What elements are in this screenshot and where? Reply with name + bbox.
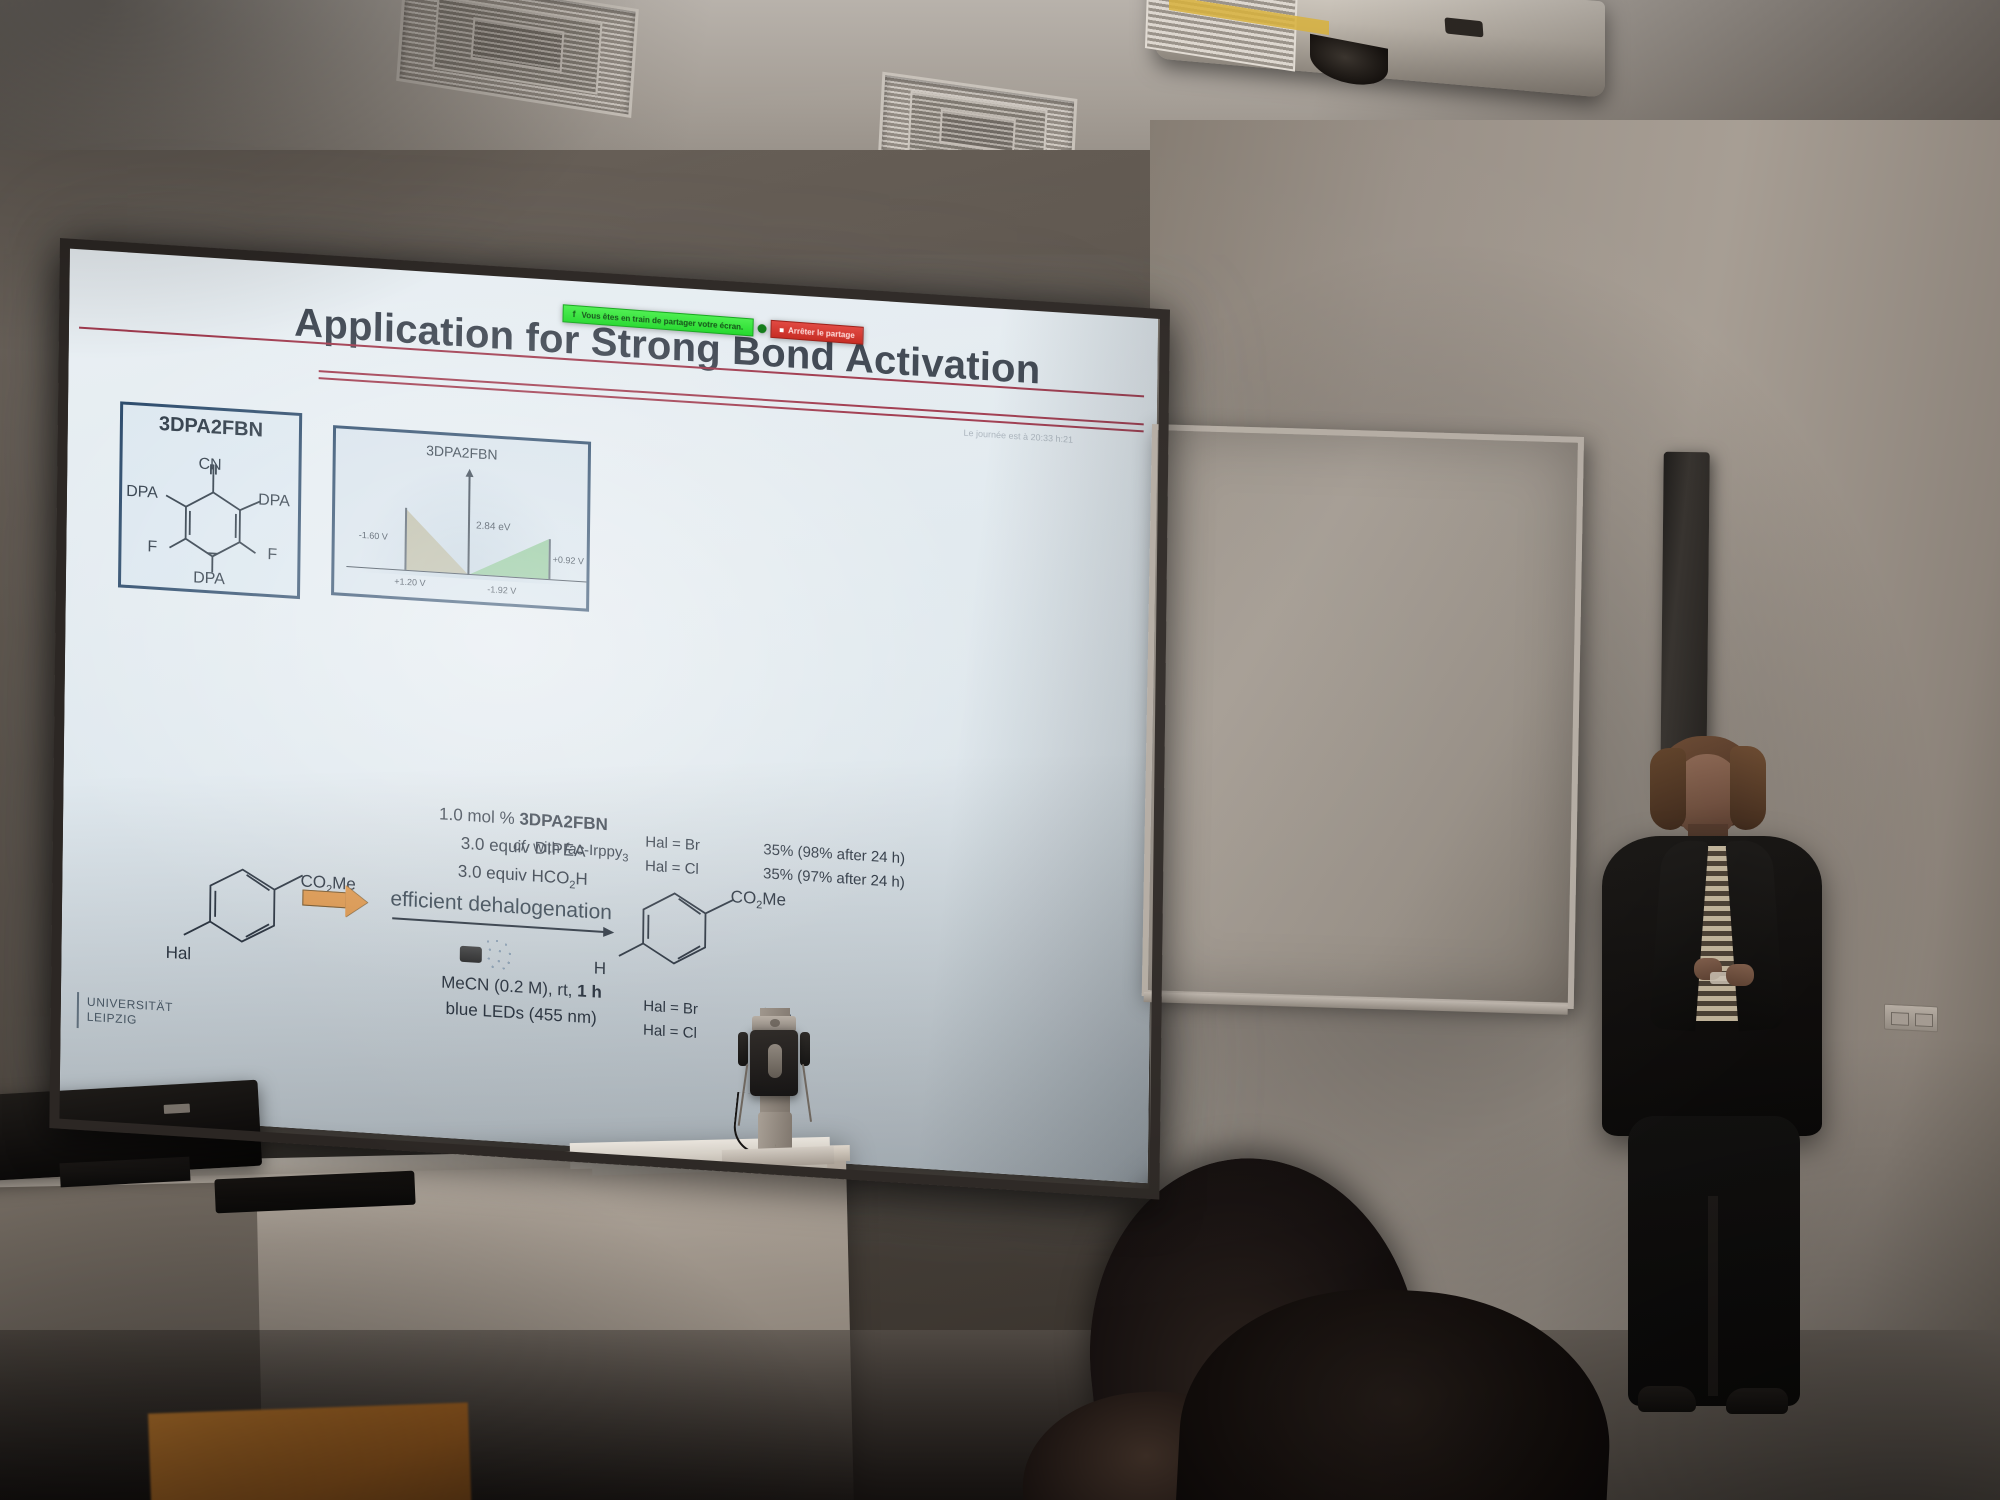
comparison-cf: cf: [513, 837, 525, 855]
energy-plot: 2.84 eV -1.60 V +0.92 V +1.20 V -1.92 V: [342, 459, 579, 586]
condition-solvent-text: MeCN (0.2 M), rt,: [441, 972, 577, 1000]
whiteboard: [1142, 424, 1584, 1009]
substituent-upper-left-dpa: DPA: [126, 483, 158, 503]
mic-body: [750, 1030, 798, 1096]
ground-reduction-potential-label: -1.92 V: [487, 584, 516, 596]
substituent-cn: CN: [198, 455, 221, 474]
presenter-shoe-left: [1638, 1386, 1696, 1412]
stop-sharing-label: Arrêter le partage: [788, 326, 855, 340]
substituent-lower-right-f: F: [267, 546, 277, 565]
comparison-row-cl-halide: Hal = Cl: [645, 858, 699, 878]
presenter-leg-gap: [1708, 1196, 1718, 1396]
mic-arm-right: [800, 1032, 810, 1066]
comparison-irppy-sub: 3: [622, 852, 628, 864]
presenter-hair-left: [1650, 748, 1686, 830]
result-row-cl-halide: Hal = Cl: [643, 1022, 697, 1042]
excited-state-energy-label: 2.84 eV: [476, 520, 511, 533]
comparison-row-br-halide: Hal = Br: [645, 834, 700, 855]
result-row-br-halide: Hal = Br: [643, 998, 698, 1019]
stop-square-icon: ■: [779, 325, 784, 334]
substituent-upper-right-dpa: DPA: [258, 491, 290, 511]
university-logo: UNIVERSITÄT LEIPZIG: [87, 995, 173, 1031]
oxidation-wedge: [470, 534, 548, 579]
power-outlet: [1884, 1004, 1938, 1033]
projection-screen: Application for Strong Bond Activation L…: [60, 248, 1158, 1183]
comparison-irppy: -Irppy: [584, 842, 623, 861]
mic-wire-right: [802, 1064, 812, 1122]
redox-energy-diagram-panel: 3DPA2FBN 2.84 eV -1.60 V +0.92 V +1.20 V…: [331, 425, 591, 612]
condition-formic-prefix: 3.0 equiv HCO: [458, 861, 570, 887]
product-structure-svg: [601, 861, 833, 1026]
product-hydrogen-label: H: [594, 958, 607, 979]
presenter-hand-right: [1726, 964, 1754, 986]
presenter-person: [1580, 736, 1880, 1436]
ground-oxidation-potential-label: +1.20 V: [394, 576, 425, 588]
presentation-slide: Application for Strong Bond Activation L…: [60, 248, 1158, 1183]
condition-catalyst-loading: 1.0 mol %: [439, 804, 520, 828]
substrate-halide-label: Hal: [166, 943, 192, 965]
presenter-shoe-right: [1726, 1388, 1788, 1414]
condition-catalyst-name: 3DPA2FBN: [519, 809, 608, 834]
reduction-wedge: [404, 508, 468, 574]
share-indicator-dot: [757, 323, 766, 333]
mic-arm-left: [738, 1032, 748, 1066]
mic-base-plate: [722, 1146, 835, 1168]
mic-screw: [770, 1019, 780, 1027]
presenter-hair-right: [1730, 746, 1766, 830]
orange-arrow-icon: [302, 889, 346, 908]
substituent-bottom-dpa: DPA: [193, 569, 225, 589]
logo-bar: [77, 992, 79, 1028]
comparison-with: . with: [525, 838, 564, 858]
mic-cable: [731, 1092, 781, 1156]
excited-oxidation-potential-label: +0.92 V: [553, 554, 584, 566]
reaction-scheme: CO2Me Hal 1.0 mol % 3DPA2FBN 3.0 equiv D…: [62, 608, 1154, 1008]
mic-capsule-slot: [768, 1044, 782, 1078]
led-chip-icon: [460, 946, 482, 963]
product-ester-label: CO2Me: [731, 887, 787, 913]
condition-formic-suffix: H: [575, 869, 588, 889]
foreground-warm-object: [148, 1402, 472, 1500]
facebook-icon: f: [572, 309, 575, 319]
substrate-structure-svg: [161, 834, 423, 1011]
substituent-lower-left-f: F: [147, 538, 157, 557]
podium-microphone-assembly: [718, 1008, 838, 1178]
lecture-hall-photo: Application for Strong Bond Activation L…: [0, 0, 2000, 1500]
excited-reduction-potential-label: -1.60 V: [359, 530, 388, 542]
condition-time: 1 h: [577, 981, 602, 1002]
overlay-status-text: Le journée est à 20:33 h:21: [963, 428, 1073, 445]
photocatalyst-structure-panel: 3DPA2FBN: [118, 401, 302, 599]
monitor-brand-badge: [164, 1104, 190, 1114]
led-light-rays-icon: [484, 937, 518, 973]
comparison-fac: fac: [564, 840, 584, 858]
